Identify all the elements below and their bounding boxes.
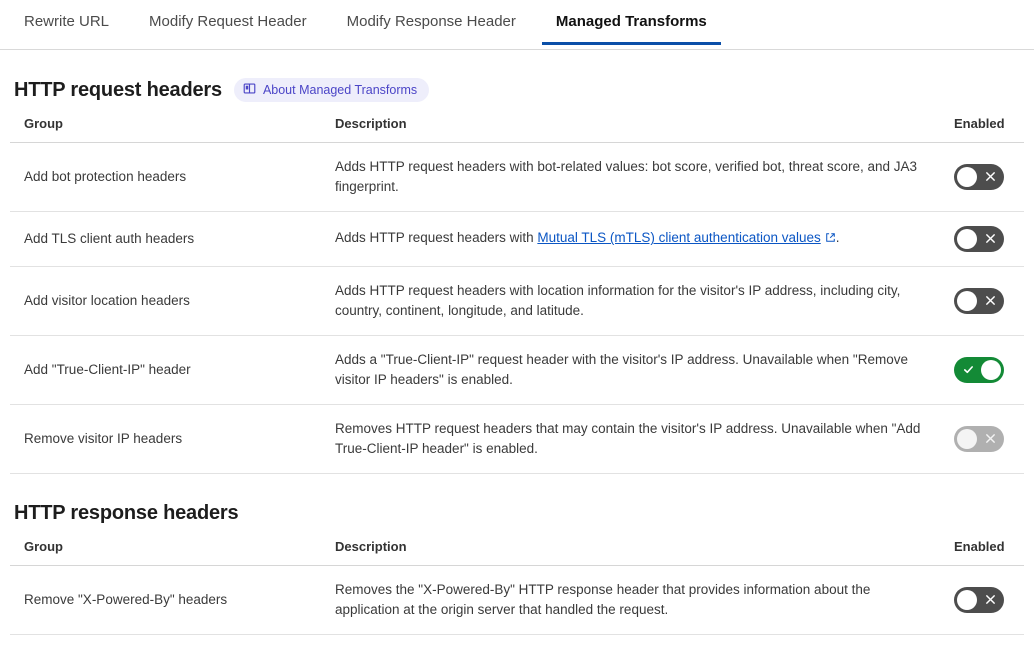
tab-modify-response-header[interactable]: Modify Response Header [333, 0, 530, 45]
toggle-knob [957, 590, 977, 610]
row-group-name: Add bot protection headers [10, 143, 330, 212]
row-enabled-cell [940, 266, 1024, 335]
about-pill-label: About Managed Transforms [263, 83, 417, 97]
request-headers-table: Group Description Enabled Add bot protec… [10, 116, 1024, 474]
row-description: Adds HTTP request headers with Mutual TL… [330, 211, 940, 266]
toggle-knob [957, 291, 977, 311]
row-description: Removes the "X-Powered-By" HTTP response… [330, 565, 940, 634]
row-description: Adds several security-related HTTP respo… [330, 634, 940, 653]
close-icon [977, 426, 1003, 452]
tab-modify-request-header[interactable]: Modify Request Header [135, 0, 321, 45]
row-description-suffix: . [836, 230, 840, 245]
row-enabled-cell [940, 211, 1024, 266]
column-header-group: Group [10, 539, 330, 566]
row-group-name: Add visitor location headers [10, 266, 330, 335]
row-description: Removes HTTP request headers that may co… [330, 404, 940, 473]
tab-rewrite-url[interactable]: Rewrite URL [10, 0, 123, 45]
row-description: Adds a "True-Client-IP" request header w… [330, 335, 940, 404]
close-icon [977, 587, 1003, 613]
toggle-knob [981, 360, 1001, 380]
row-group-name: Add "True-Client-IP" header [10, 335, 330, 404]
column-header-enabled: Enabled [940, 116, 1024, 143]
book-icon [243, 82, 256, 98]
tab-bar: Rewrite URL Modify Request Header Modify… [0, 0, 1034, 50]
close-icon [977, 164, 1003, 190]
external-link-icon [825, 229, 836, 249]
page-title: HTTP request headers [14, 79, 222, 102]
toggle-knob [957, 229, 977, 249]
about-managed-transforms-link[interactable]: About Managed Transforms [234, 78, 429, 102]
row-group-name: Remove visitor IP headers [10, 404, 330, 473]
http-response-headers-section: HTTP response headers Group Description … [10, 502, 1024, 653]
column-header-group: Group [10, 116, 330, 143]
toggle-knob [957, 429, 977, 449]
row-group-name: Add TLS client auth headers [10, 211, 330, 266]
table-row: Add visitor location headers Adds HTTP r… [10, 266, 1024, 335]
toggle-add-true-client-ip-header[interactable] [954, 357, 1004, 383]
row-description-prefix: Adds HTTP request headers with [335, 230, 537, 245]
row-description: Adds HTTP request headers with bot-relat… [330, 143, 940, 212]
row-group-name: Add security headers [10, 634, 330, 653]
toggle-remove-visitor-ip-headers [954, 426, 1004, 452]
toggle-add-tls-client-auth-headers[interactable] [954, 226, 1004, 252]
row-enabled-cell [940, 143, 1024, 212]
row-enabled-cell [940, 565, 1024, 634]
close-icon [977, 226, 1003, 252]
table-row: Remove "X-Powered-By" headers Removes th… [10, 565, 1024, 634]
toggle-add-visitor-location-headers[interactable] [954, 288, 1004, 314]
table-header-row: Group Description Enabled [10, 116, 1024, 143]
row-group-name: Remove "X-Powered-By" headers [10, 565, 330, 634]
toggle-knob [957, 167, 977, 187]
response-section-title: HTTP response headers [14, 502, 238, 525]
row-description: Adds HTTP request headers with location … [330, 266, 940, 335]
table-header-row: Group Description Enabled [10, 539, 1024, 566]
toggle-add-bot-protection-headers[interactable] [954, 164, 1004, 190]
table-row: Remove visitor IP headers Removes HTTP r… [10, 404, 1024, 473]
mutual-tls-link-label: Mutual TLS (mTLS) client authentication … [537, 230, 820, 245]
request-section-header: HTTP request headers About Managed Trans… [10, 78, 1024, 102]
row-enabled-cell [940, 335, 1024, 404]
toggle-remove-x-powered-by-headers[interactable] [954, 587, 1004, 613]
table-row: Add TLS client auth headers Adds HTTP re… [10, 211, 1024, 266]
checkmark-icon [955, 357, 981, 383]
row-enabled-cell [940, 634, 1024, 653]
table-row: Add bot protection headers Adds HTTP req… [10, 143, 1024, 212]
close-icon [977, 288, 1003, 314]
mutual-tls-link[interactable]: Mutual TLS (mTLS) client authentication … [537, 230, 820, 245]
column-header-description: Description [330, 116, 940, 143]
column-header-description: Description [330, 539, 940, 566]
response-headers-table: Group Description Enabled Remove "X-Powe… [10, 539, 1024, 653]
page-content: HTTP request headers About Managed Trans… [0, 78, 1034, 653]
table-row: Add "True-Client-IP" header Adds a "True… [10, 335, 1024, 404]
response-section-header: HTTP response headers [10, 502, 1024, 525]
table-row: Add security headers Adds several securi… [10, 634, 1024, 653]
tab-managed-transforms[interactable]: Managed Transforms [542, 0, 721, 45]
column-header-enabled: Enabled [940, 539, 1024, 566]
http-request-headers-section: HTTP request headers About Managed Trans… [10, 78, 1024, 474]
row-enabled-cell [940, 404, 1024, 473]
